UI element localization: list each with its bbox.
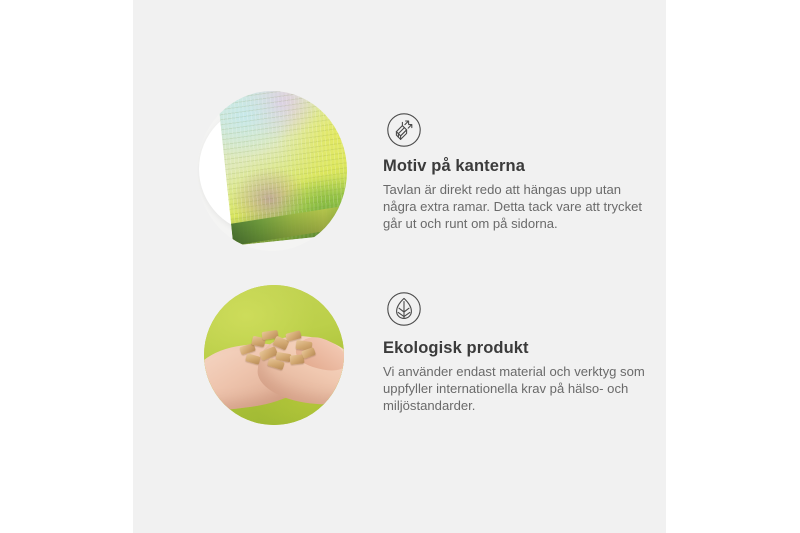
- feature-title: Ekologisk produkt: [383, 337, 661, 359]
- feature-title: Motiv på kanterna: [383, 155, 649, 177]
- hands-woodchips-photo: [204, 285, 344, 425]
- content-panel: Motiv på kanterna Tavlan är direkt redo …: [133, 0, 666, 533]
- wood-chips: [236, 329, 318, 371]
- feature-body: Vi använder endast material och verktyg …: [383, 363, 661, 415]
- canvas-wrapped-edges-icon: [386, 112, 422, 148]
- leaf-icon: [386, 291, 422, 327]
- product-feature-panel: Motiv på kanterna Tavlan är direkt redo …: [0, 0, 800, 533]
- feature-body: Tavlan är direkt redo att hängas upp uta…: [383, 181, 649, 233]
- canvas-artwork: [217, 91, 347, 246]
- feature-text-canvas-edges: Motiv på kanterna Tavlan är direkt redo …: [383, 155, 649, 233]
- feature-text-eco-product: Ekologisk produkt Vi använder endast mat…: [383, 337, 661, 415]
- canvas-corner-photo: [197, 91, 347, 251]
